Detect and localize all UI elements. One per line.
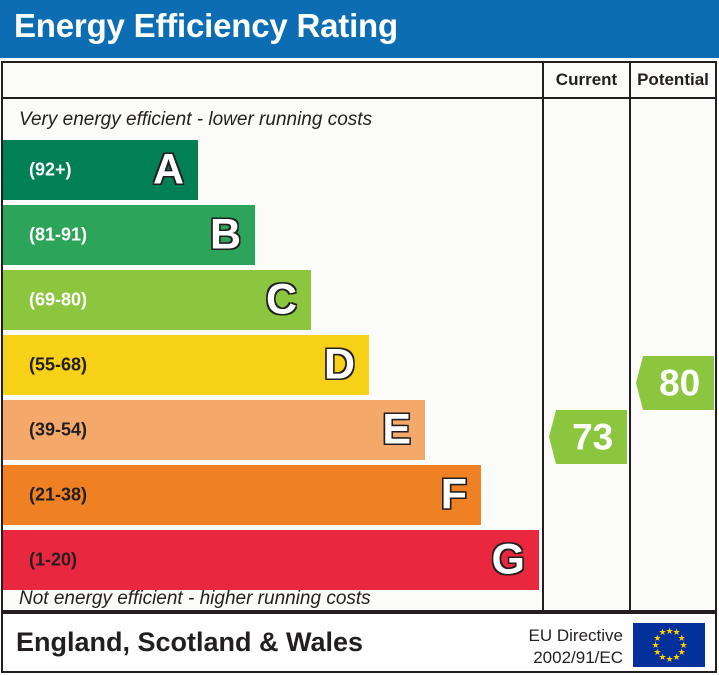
eu-flag-star: ★ — [659, 629, 666, 636]
certificate-footer: England, Scotland & Wales EU Directive 2… — [1, 612, 717, 673]
region-label: England, Scotland & Wales — [16, 627, 363, 658]
eu-directive-line1: EU Directive — [529, 625, 623, 647]
column-header-potential: Potential — [629, 70, 717, 90]
band-range-label-f: (21-38) — [29, 485, 87, 506]
band-letter-f: F — [441, 474, 467, 517]
band-letter-a: A — [153, 149, 184, 192]
eu-directive-line2: 2002/91/EC — [529, 647, 623, 669]
rating-band-d: (55-68)D — [3, 335, 369, 395]
eu-flag-icon: ★★★★★★★★★★★★ — [633, 623, 705, 667]
band-range-label-c: (69-80) — [29, 290, 87, 311]
band-range-label-g: (1-20) — [29, 550, 77, 571]
energy-efficiency-rating-certificate: Energy Efficiency Rating Current Potenti… — [0, 0, 719, 675]
rating-band-a: (92+)A — [3, 140, 198, 200]
current-rating-arrow: 73 — [549, 410, 627, 464]
eu-flag-star: ★ — [653, 649, 660, 656]
potential-rating-arrow: 80 — [636, 356, 714, 410]
rating-band-e: (39-54)E — [3, 400, 425, 460]
column-header-current: Current — [542, 70, 631, 90]
chart-title-bar: Energy Efficiency Rating — [0, 0, 719, 58]
band-range-label-a: (92+) — [29, 160, 72, 181]
eu-directive-label: EU Directive 2002/91/EC — [529, 625, 623, 669]
rating-band-g: (1-20)G — [3, 530, 539, 590]
band-letter-g: G — [492, 539, 525, 582]
rating-band-f: (21-38)F — [3, 465, 481, 525]
band-letter-d: D — [324, 344, 355, 387]
rating-bands: (92+)A(81-91)B(69-80)C(55-68)D(39-54)E(2… — [3, 63, 539, 610]
band-letter-c: C — [266, 279, 297, 322]
rating-band-c: (69-80)C — [3, 270, 311, 330]
band-range-label-d: (55-68) — [29, 355, 87, 376]
page-title: Energy Efficiency Rating — [14, 7, 398, 45]
band-letter-b: B — [210, 214, 241, 257]
rating-band-b: (81-91)B — [3, 205, 255, 265]
column-divider-potential — [629, 63, 631, 610]
column-divider-current — [542, 63, 544, 610]
potential-rating-value: 80 — [648, 365, 710, 402]
band-letter-e: E — [382, 409, 411, 452]
band-range-label-e: (39-54) — [29, 420, 87, 441]
band-range-label-b: (81-91) — [29, 225, 87, 246]
current-rating-value: 73 — [561, 419, 623, 456]
rating-table: Current Potential Very energy efficient … — [1, 61, 717, 612]
eu-flag-star: ★ — [652, 642, 659, 649]
